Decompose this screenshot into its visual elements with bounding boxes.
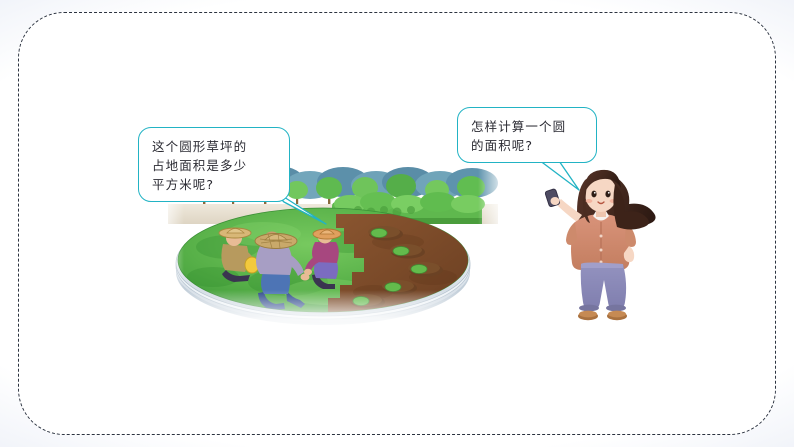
speech-bubble-right-text: 怎样计算一个圆 的面积呢? bbox=[471, 117, 584, 155]
sandals bbox=[578, 311, 627, 321]
speech-bubble-question-formula[interactable]: 怎样计算一个圆 的面积呢? bbox=[457, 107, 597, 163]
speech-bubble-left-text: 这个圆形草坪的 占地面积是多少 平方米呢? bbox=[152, 137, 277, 194]
slide-canvas: 这个圆形草坪的 占地面积是多少 平方米呢? 怎样计算一个圆 的面积呢? bbox=[0, 0, 794, 447]
speech-bubble-question-area[interactable]: 这个圆形草坪的 占地面积是多少 平方米呢? bbox=[138, 127, 290, 202]
pants bbox=[581, 264, 626, 310]
